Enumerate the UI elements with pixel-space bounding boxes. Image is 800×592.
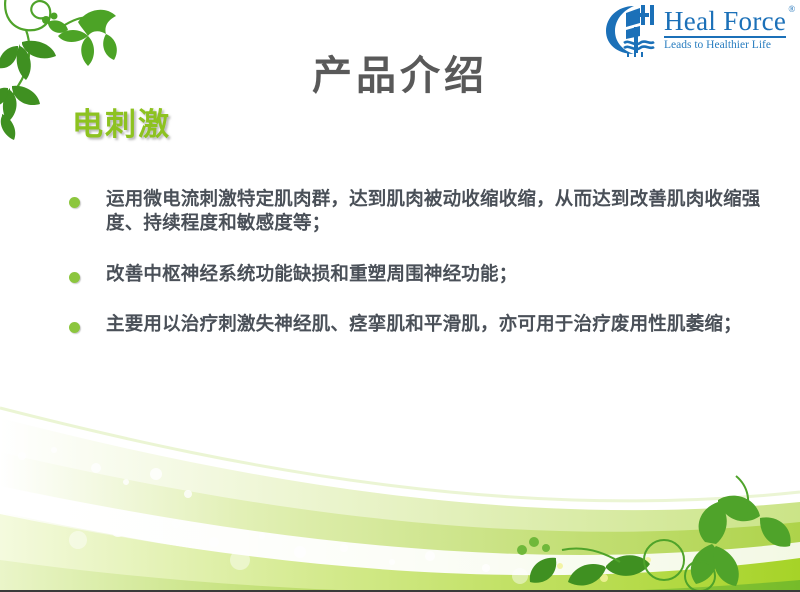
list-item: 改善中枢神经系统功能缺损和重塑周围神经功能；	[64, 263, 764, 287]
bullet-dot-icon	[69, 272, 80, 283]
bullet-list: 运用微电流刺激特定肌肉群，达到肌肉被动收缩收缩，从而达到改善肌肉收缩强度、持续程…	[64, 188, 764, 364]
list-item: 主要用以治疗刺激失神经肌、痉挛肌和平滑肌，亦可用于治疗废用性肌萎缩；	[64, 313, 764, 337]
logo-wordmark: Heal Force	[664, 8, 786, 38]
bullet-dot-icon	[69, 197, 80, 208]
leaf-cluster-right	[517, 476, 791, 590]
section-subtitle: 电刺激	[72, 99, 171, 144]
list-item: 运用微电流刺激特定肌肉群，达到肌肉被动收缩收缩，从而达到改善肌肉收缩强度、持续程…	[64, 188, 764, 237]
bottom-ribbon-decoration	[0, 390, 800, 590]
slide-canvas: Heal Force ® Leads to Healthier Life 产品介…	[0, 0, 800, 592]
page-title: 产品介绍	[0, 43, 800, 101]
bullet-dot-icon	[69, 322, 80, 333]
list-item-text: 主要用以治疗刺激失神经肌、痉挛肌和平滑肌，亦可用于治疗废用性肌萎缩；	[106, 314, 742, 335]
list-item-text: 改善中枢神经系统功能缺损和重塑周围神经功能；	[106, 264, 517, 285]
list-item-text: 运用微电流刺激特定肌肉群，达到肌肉被动收缩收缩，从而达到改善肌肉收缩强度、持续程…	[106, 189, 761, 234]
registered-trademark-symbol: ®	[788, 5, 795, 14]
